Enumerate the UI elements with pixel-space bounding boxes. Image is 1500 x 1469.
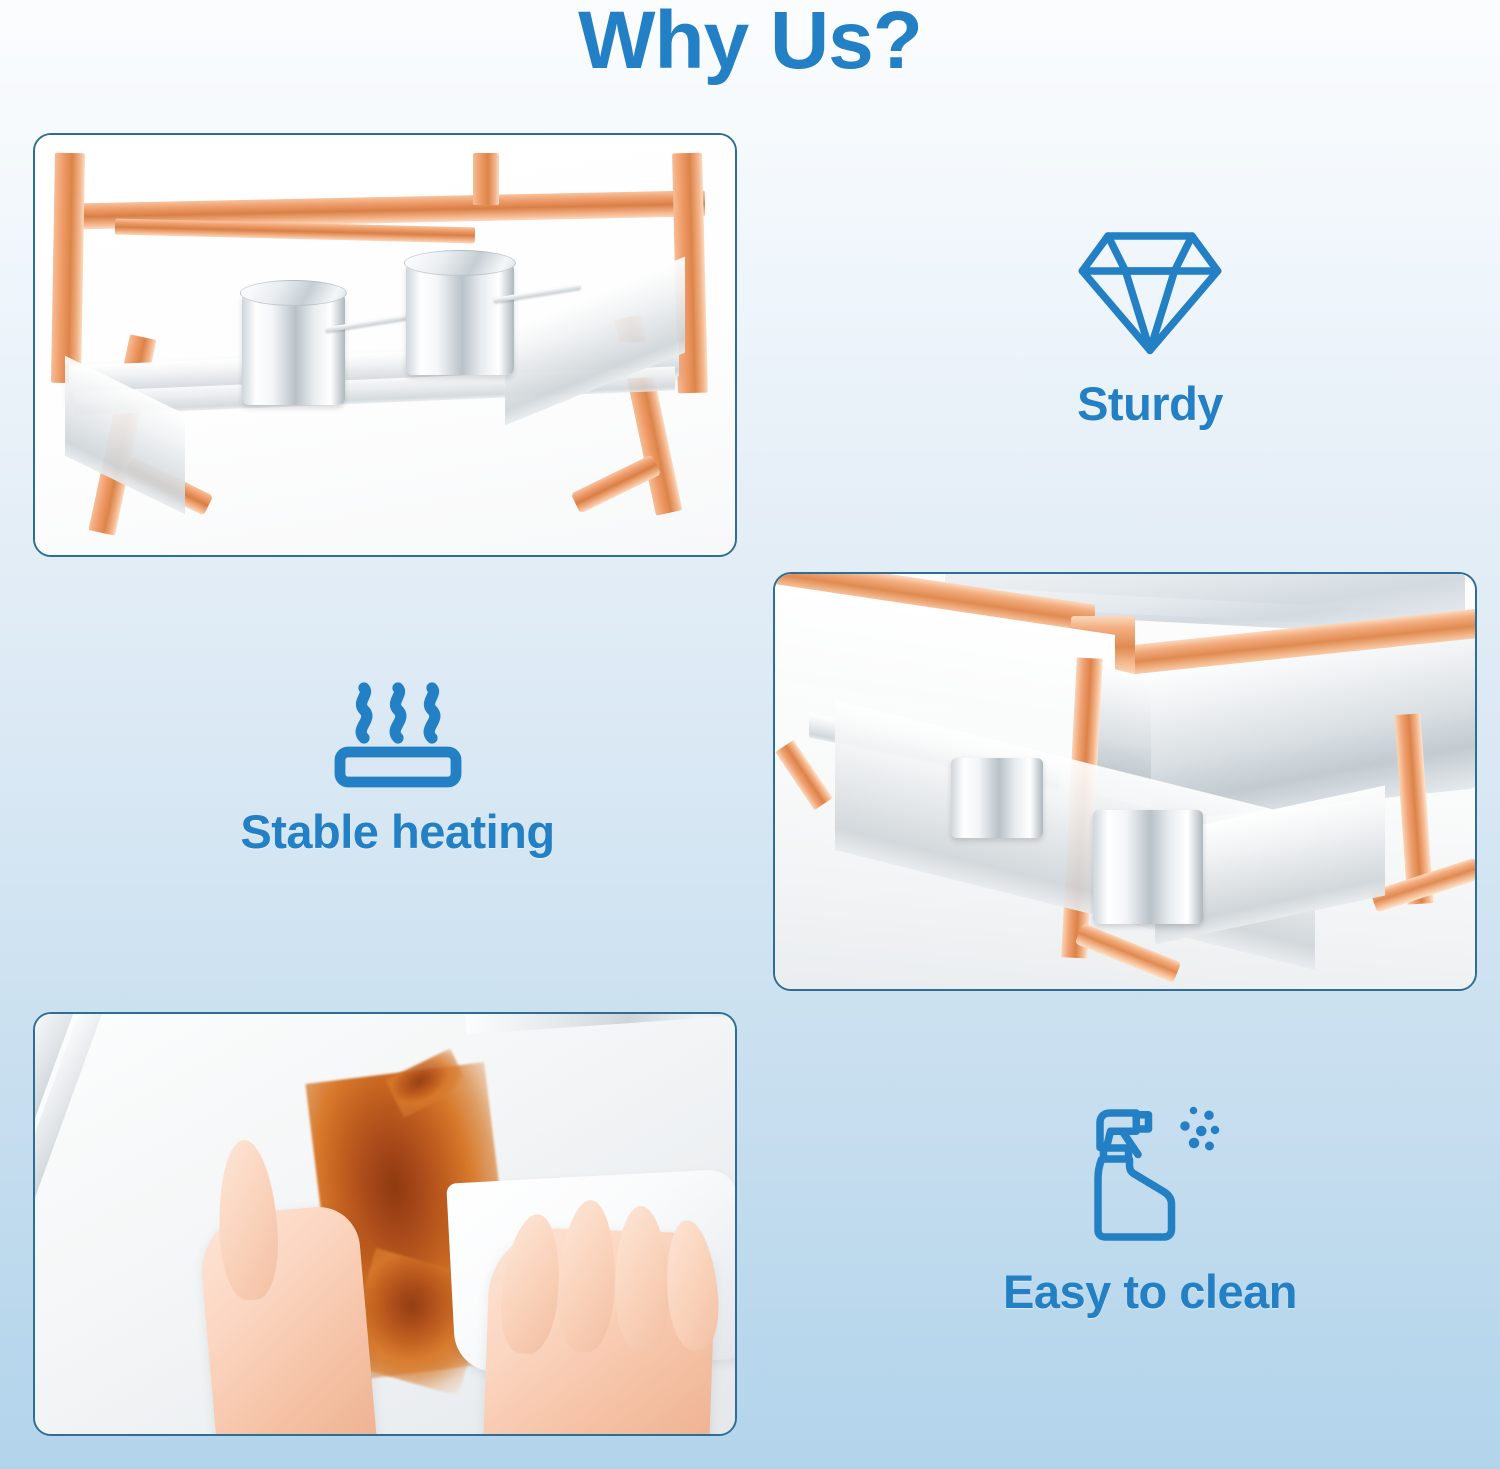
feature-stable-heating-icon-wrap xyxy=(205,682,590,790)
heat-plate-icon xyxy=(340,752,456,782)
fuel-canister-front xyxy=(1093,810,1203,924)
feature-sturdy: Sturdy xyxy=(980,222,1320,431)
infographic-canvas: Why Us? xyxy=(0,0,1500,1469)
photo-chafer-corner xyxy=(775,574,1475,989)
copper-post-center xyxy=(473,153,499,205)
fuel-canister-left-lid xyxy=(240,280,347,306)
spray-bottle-icon xyxy=(1075,1100,1225,1250)
copper-leg-left xyxy=(51,153,85,383)
photo-panel-wiping-stain xyxy=(33,1012,737,1436)
fuel-canister-left xyxy=(242,293,345,405)
photo-panel-chafer-corner xyxy=(773,572,1477,991)
page-title: Why Us? xyxy=(0,0,1500,88)
spray-droplets-icon xyxy=(1180,1107,1219,1151)
feature-stable-heating-label: Stable heating xyxy=(205,804,590,859)
photo-frame-fuel-holders xyxy=(35,135,735,555)
fuel-canister-right-lid xyxy=(404,250,516,276)
diamond-icon xyxy=(1075,222,1225,362)
photo-wiping-stain xyxy=(35,1014,735,1434)
feature-sturdy-icon-wrap xyxy=(980,222,1320,362)
fuel-canister-rear xyxy=(951,758,1043,838)
feature-easy-to-clean-icon-wrap xyxy=(955,1100,1345,1250)
fuel-canister-right xyxy=(406,263,514,375)
steam-heat-icon xyxy=(332,682,464,790)
feature-stable-heating: Stable heating xyxy=(205,682,590,859)
feature-easy-to-clean: Easy to clean xyxy=(955,1100,1345,1319)
photo-panel-frame-fuel-holders xyxy=(33,133,737,557)
feature-sturdy-label: Sturdy xyxy=(980,376,1320,431)
feature-easy-to-clean-label: Easy to clean xyxy=(955,1264,1345,1319)
